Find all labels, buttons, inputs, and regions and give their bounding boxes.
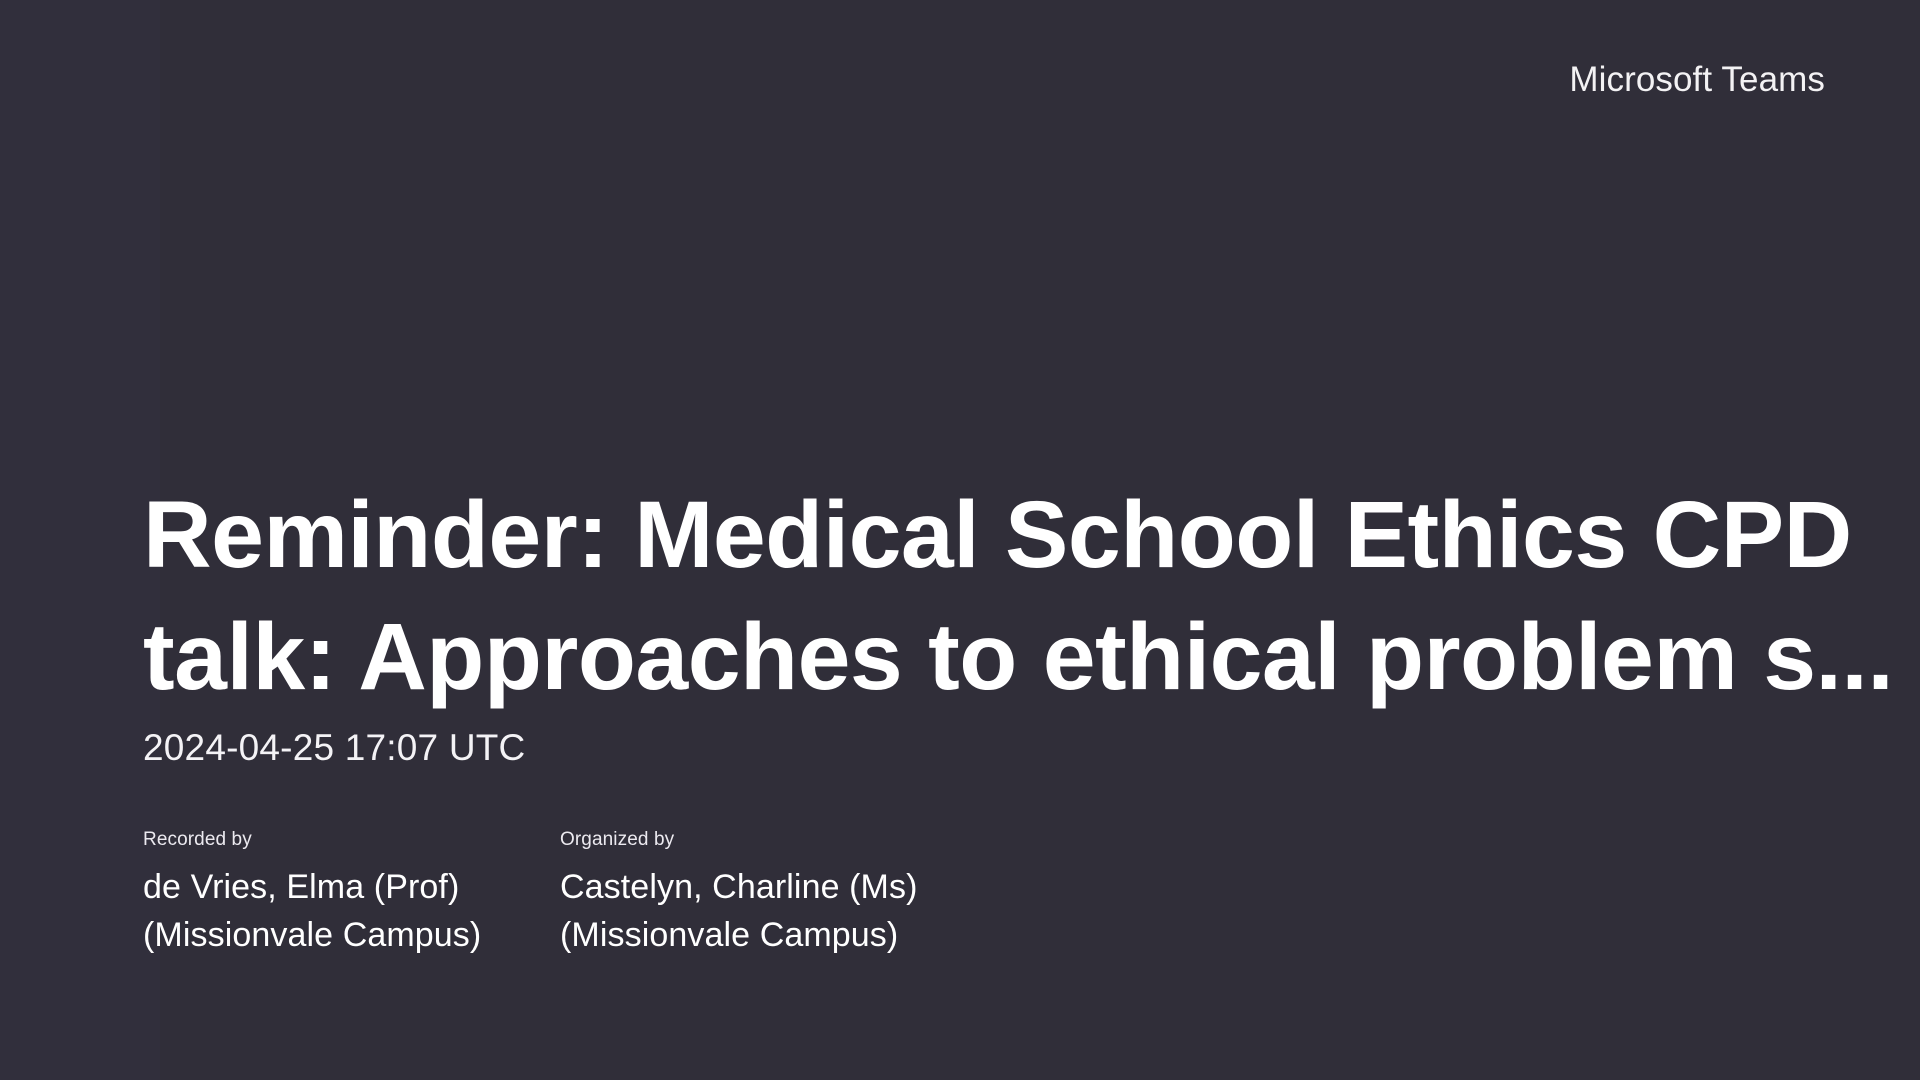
recorded-by-value: de Vries, Elma (Prof) (Missionvale Campu… (143, 863, 560, 959)
recorded-by-label: Recorded by (143, 828, 560, 852)
recorded-by-name: de Vries, Elma (Prof) (143, 863, 560, 911)
recorded-by-campus: (Missionvale Campus) (143, 911, 560, 959)
recording-metadata: Recorded by de Vries, Elma (Prof) (Missi… (143, 828, 1160, 959)
teams-recording-title-card: Microsoft Teams Reminder: Medical School… (0, 0, 1920, 1080)
recording-datetime: 2024-04-25 17:07 UTC (143, 726, 1833, 770)
microsoft-teams-brand-label: Microsoft Teams (1569, 59, 1825, 101)
organized-by-name: Castelyn, Charline (Ms) (560, 863, 1160, 911)
recorded-by-column: Recorded by de Vries, Elma (Prof) (Missi… (143, 828, 560, 959)
recording-title-line-2: talk: Approaches to ethical problem s... (143, 596, 1833, 718)
organized-by-campus: (Missionvale Campus) (560, 911, 1160, 959)
left-edge-strip (0, 0, 160, 1080)
organized-by-value: Castelyn, Charline (Ms) (Missionvale Cam… (560, 863, 1160, 959)
organized-by-column: Organized by Castelyn, Charline (Ms) (Mi… (560, 828, 1160, 959)
organized-by-label: Organized by (560, 828, 1160, 852)
recording-heading-block: Reminder: Medical School Ethics CPD talk… (143, 474, 1833, 770)
recording-title-line-1: Reminder: Medical School Ethics CPD (143, 474, 1833, 596)
recording-title: Reminder: Medical School Ethics CPD talk… (143, 474, 1833, 718)
